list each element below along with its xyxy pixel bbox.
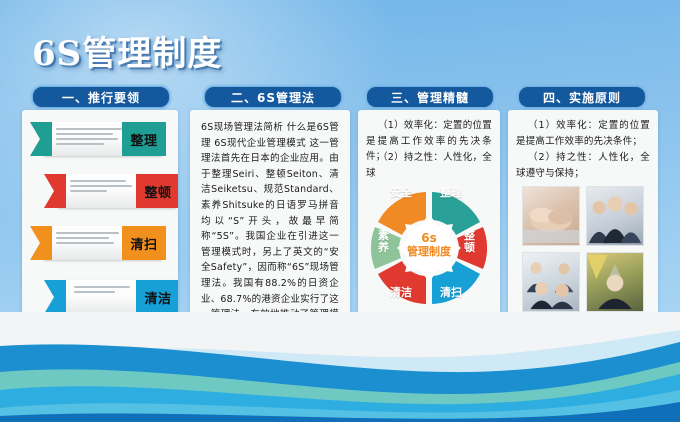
photo-celebration-team-icon	[586, 252, 644, 312]
panel-推行要领: 整理 整顿 清扫	[22, 110, 178, 334]
ribbon-tail-icon	[30, 226, 52, 260]
donut-center-bottom: 管理制度	[399, 246, 459, 259]
wave-decoration	[0, 312, 680, 422]
donut-center-label: 6s 管理制度	[399, 232, 459, 258]
ribbon-item[interactable]: 整顿	[44, 174, 176, 208]
ribbon-item[interactable]: 清洁	[44, 280, 176, 314]
section-header-1[interactable]: 一、推行要领	[32, 86, 170, 108]
segment-label-整顿: 整顿	[464, 230, 476, 254]
ribbon-badge: 整顿	[136, 174, 178, 208]
team-icon	[587, 187, 643, 245]
panel-6S管理法: 6S现场管理法简析 什么是6S管理 6S现代企业管理模式 这一管理法首先在日本的…	[190, 110, 350, 334]
segment-label-清洁: 清洁	[390, 284, 412, 300]
rule-line-2: （2）持之性：人性化，全球遵守与保持；	[516, 150, 650, 181]
6s-donut-chart: 安全 整理 整顿 素养 清洁 清扫 6s 管理制度	[368, 172, 490, 322]
ribbon-tail-icon	[44, 174, 66, 208]
ribbon-item[interactable]: 整理	[30, 122, 162, 156]
ribbon-text-lines	[74, 286, 130, 308]
photo-grid	[522, 186, 644, 312]
ribbon-badge: 清扫	[122, 226, 166, 260]
ribbon-item[interactable]: 清扫	[30, 226, 162, 260]
segment-label-清扫: 清扫	[440, 284, 462, 300]
section-header-2[interactable]: 二、6S管理法	[204, 86, 342, 108]
celebration-icon	[587, 253, 643, 311]
page-title: 6S管理制度	[32, 26, 222, 75]
ribbon-text-lines	[56, 128, 122, 150]
panel-body-text: 6S现场管理法简析 什么是6S管理 6S现代企业管理模式 这一管理法首先在日本的…	[201, 120, 339, 334]
panel-实施原则: （1）效率化：定置的位置是提高工作效率的先决条件； （2）持之性：人性化，全球遵…	[508, 110, 658, 334]
section-header-3[interactable]: 三、管理精髓	[366, 86, 494, 108]
meeting-icon	[523, 253, 579, 311]
ribbon-tail-icon	[30, 122, 52, 156]
photo-business-team-icon	[586, 186, 644, 246]
section-header-4[interactable]: 四、实施原则	[518, 86, 646, 108]
donut-center-top: 6s	[399, 232, 459, 246]
poster-root: 6S管理制度 一、推行要领 二、6S管理法 三、管理精髓 四、实施原则 整理	[0, 0, 680, 422]
ribbon-badge: 整理	[122, 122, 166, 156]
ribbon-tail-icon	[44, 280, 66, 314]
ribbon-text-lines	[56, 232, 122, 254]
panel-管理精髓: （1）效率化：定置的位置是提高工作效率的先决条件； （2）持之性：人性化，全球	[358, 110, 500, 334]
photo-teamwork-hands-icon	[522, 186, 580, 246]
hands-icon	[523, 187, 579, 245]
ribbon-badge: 清洁	[136, 280, 178, 314]
segment-label-安全: 安全	[390, 184, 412, 200]
photo-office-meeting-icon	[522, 252, 580, 312]
rule-line-1: （1）效率化：定置的位置是提高工作效率的先决条件；	[516, 118, 650, 149]
segment-label-整理: 整理	[440, 184, 462, 200]
ribbon-text-lines	[70, 180, 132, 202]
segment-label-素养: 素养	[378, 230, 390, 254]
